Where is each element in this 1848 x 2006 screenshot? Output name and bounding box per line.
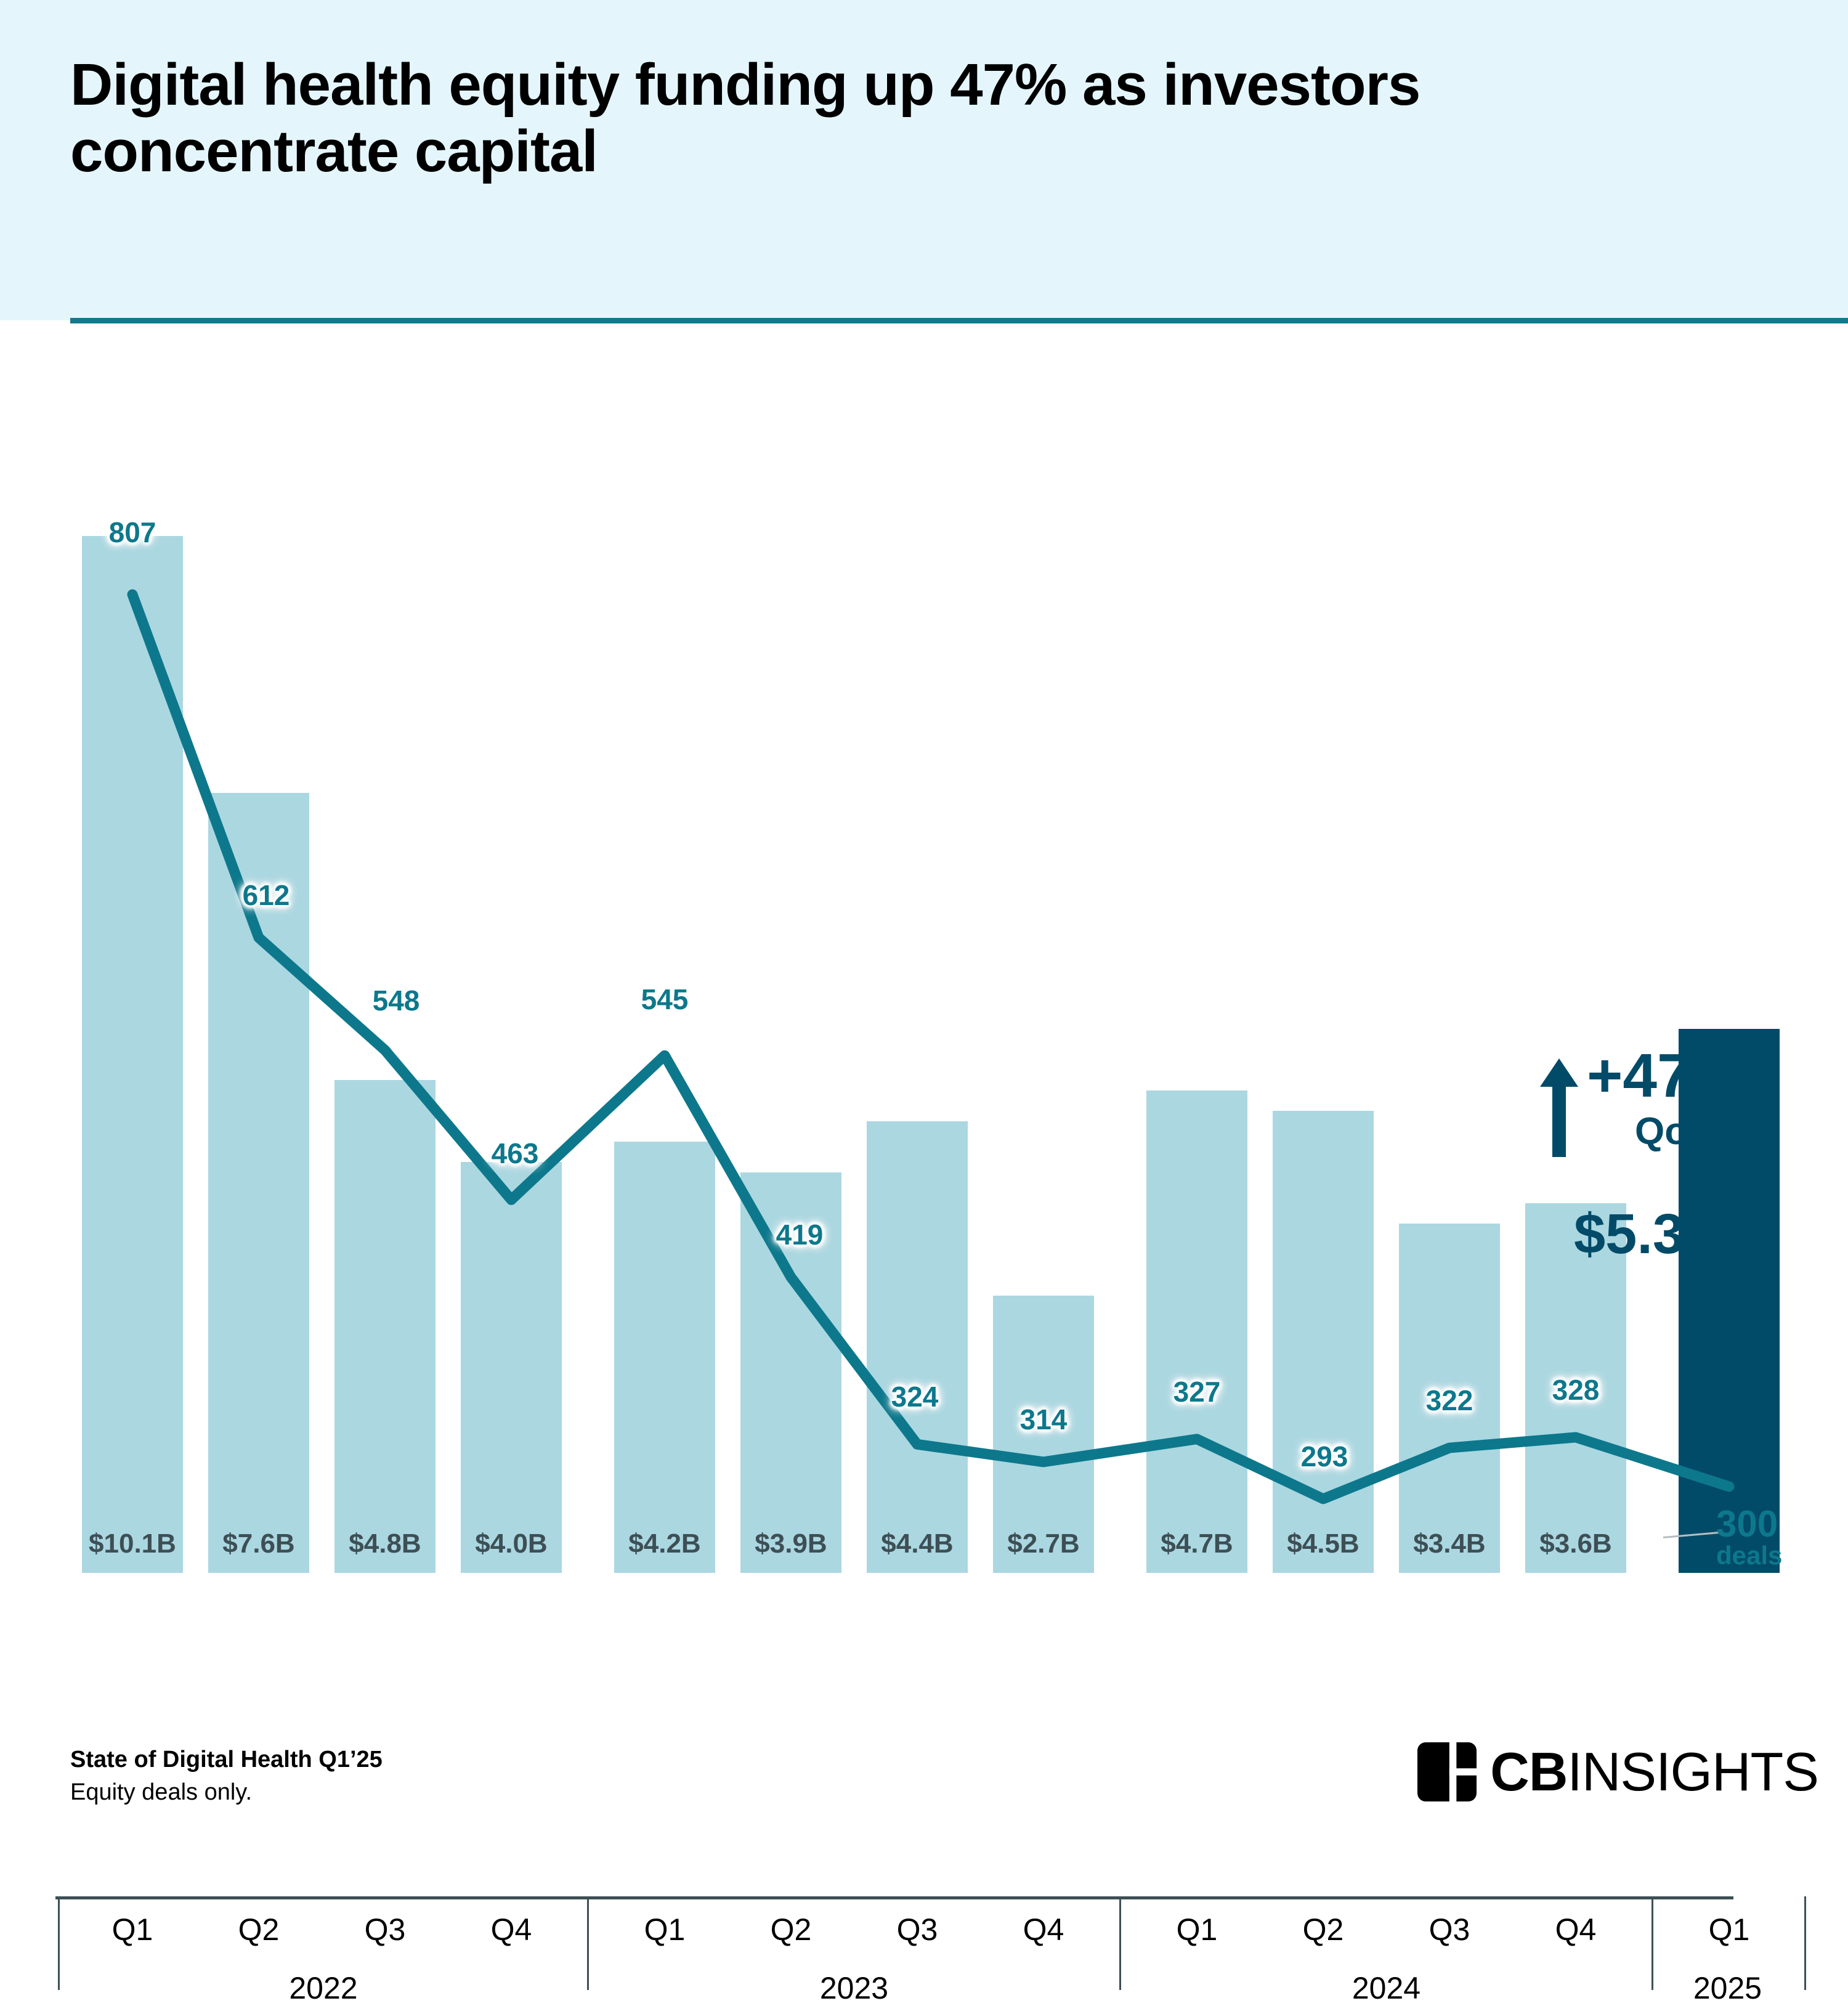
deals-value-label: 419 (744, 1218, 855, 1251)
deals-value-label: 612 (211, 879, 322, 912)
logo-bold: CB (1490, 1741, 1567, 1802)
page-title: Digital health equity funding up 47% as … (70, 52, 1733, 184)
cbinsights-wordmark: CBINSIGHTS (1490, 1745, 1818, 1799)
x-tick-label-2024-Q1: Q1 (1146, 1912, 1247, 1947)
x-tick-label-2024-Q2: Q2 (1273, 1912, 1374, 1947)
x-axis-line (55, 1896, 1733, 1899)
deals-value-label: 327 (1141, 1375, 1252, 1408)
deals-value-label: 463 (460, 1137, 570, 1170)
deals-label: deals (1716, 1543, 1782, 1569)
deals-count: 300 (1716, 1505, 1782, 1543)
deals-value-label: 322 (1394, 1384, 1505, 1417)
arrow-up-icon (1540, 1058, 1578, 1157)
title-divider (70, 318, 1848, 323)
x-tick-label-2022-Q2: Q2 (208, 1912, 309, 1947)
deals-callout: 300 deals (1716, 1505, 1782, 1569)
x-tick-label-2022-Q1: Q1 (82, 1912, 183, 1947)
deals-value-label: 545 (609, 983, 720, 1016)
x-axis-year-2025: 2025 (1651, 1970, 1804, 2006)
x-tick-label-2023-Q2: Q2 (740, 1912, 841, 1947)
x-tick-label-2023-Q1: Q1 (614, 1912, 715, 1947)
x-axis-year-2023: 2023 (587, 1970, 1122, 2006)
source-title: State of Digital Health Q1’25 (70, 1747, 383, 1773)
source-note: Equity deals only. (70, 1779, 252, 1806)
x-tick-label-2025-Q1: Q1 (1679, 1912, 1780, 1947)
deals-value-label: 328 (1520, 1373, 1631, 1407)
cbinsights-mark-icon (1417, 1742, 1477, 1801)
deals-value-label: 807 (77, 516, 188, 549)
x-axis-year-2024: 2024 (1119, 1970, 1654, 2006)
x-tick-label-2022-Q3: Q3 (334, 1912, 436, 1947)
cbinsights-logo: CBINSIGHTS (1417, 1742, 1818, 1801)
x-tick-label-2023-Q3: Q3 (867, 1912, 968, 1947)
logo-light: INSIGHTS (1567, 1741, 1818, 1802)
highlight-bar-value: $5.3B (1574, 1202, 1725, 1267)
qoq-percent: +47% (1587, 1045, 1746, 1107)
x-tick-label-2022-Q4: Q4 (461, 1912, 562, 1947)
deals-value-label: 314 (988, 1403, 1099, 1436)
x-tick-label-2023-Q4: Q4 (993, 1912, 1094, 1947)
deals-value-label: 324 (859, 1380, 970, 1413)
qoq-sublabel: QoQ (1635, 1113, 1717, 1151)
deals-value-label: 293 (1269, 1440, 1380, 1473)
footer: State of Digital Health Q1’25 Equity dea… (0, 1731, 1848, 1848)
x-axis-year-2022: 2022 (58, 1970, 590, 2006)
deals-value-label: 548 (341, 984, 452, 1017)
x-tick-label-2024-Q3: Q3 (1399, 1912, 1500, 1947)
chart-plot-area: $10.1B$7.6B$4.8B$4.0B$4.2B$3.9B$4.4B$2.7… (0, 323, 1848, 1848)
axis-group-separator (1804, 1896, 1806, 1990)
x-tick-label-2024-Q4: Q4 (1525, 1912, 1626, 1947)
